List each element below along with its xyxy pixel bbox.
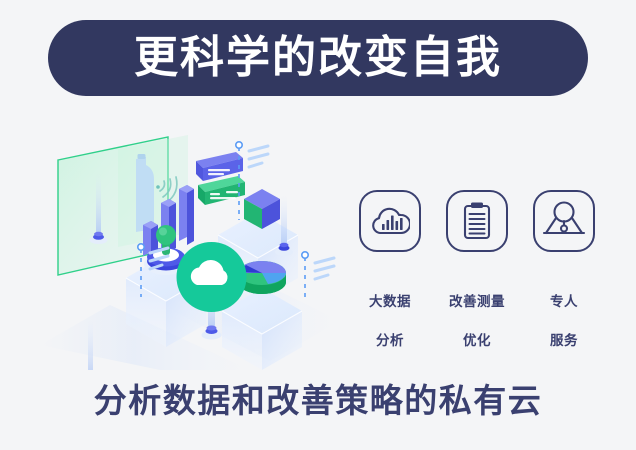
clipboard-icon: [460, 201, 494, 241]
tagline: 分析数据和改善策略的私有云: [0, 384, 636, 417]
feature-big-data-analysis[interactable]: 大数据 分析: [352, 190, 428, 350]
feature-label-line1: 改善测量: [449, 294, 505, 309]
support-person-icon: [542, 201, 586, 241]
promo-banner: 更科学的改变自我: [0, 0, 636, 450]
feature-label-big-data-analysis: 大数据 分析: [369, 272, 411, 350]
illustration: [40, 125, 340, 370]
feature-list: 大数据 分析 改善测量: [352, 190, 602, 350]
feature-label-line1: 专人: [550, 294, 578, 309]
feature-label-line2: 优化: [463, 333, 491, 348]
support-person-icon-frame: [533, 190, 595, 252]
feature-improvement-measurement[interactable]: 改善测量 优化: [439, 190, 515, 350]
feature-label-dedicated-service: 专人 服务: [550, 272, 578, 350]
header-pill: 更科学的改变自我: [48, 20, 588, 96]
feature-label-line2: 分析: [376, 333, 404, 348]
cloud-bar-chart-icon: [370, 204, 410, 238]
feature-dedicated-service[interactable]: 专人 服务: [526, 190, 602, 350]
page-title: 更科学的改变自我: [134, 36, 502, 80]
feature-label-line1: 大数据: [369, 294, 411, 309]
feature-label-improvement-measurement: 改善测量 优化: [449, 272, 505, 350]
feature-label-line2: 服务: [550, 333, 578, 348]
cloud-bar-chart-icon-frame: [359, 190, 421, 252]
clipboard-icon-frame: [446, 190, 508, 252]
